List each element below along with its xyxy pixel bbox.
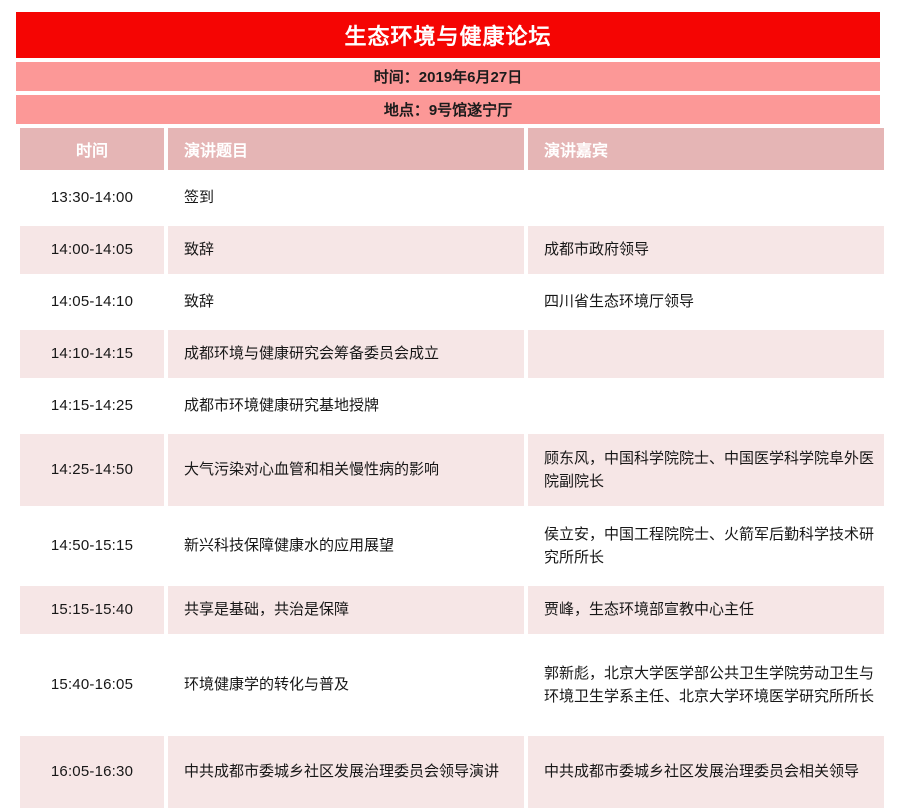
- cell-guest: 顾东风，中国科学院院士、中国医学科学院阜外医院副院长: [528, 434, 884, 506]
- cell-topic: 中共成都市委城乡社区发展治理委员会领导演讲: [168, 736, 524, 808]
- cell-guest: 中共成都市委城乡社区发展治理委员会相关领导: [528, 736, 884, 808]
- cell-time: 15:15-15:40: [20, 586, 164, 634]
- column-header-time: 时间: [20, 128, 164, 170]
- cell-guest: 侯立安，中国工程院院士、火箭军后勤科学技术研究所所长: [528, 510, 884, 582]
- agenda-table-head: 时间 演讲题目 演讲嘉宾: [20, 128, 884, 170]
- agenda-table-body: 13:30-14:00签到14:00-14:05致辞成都市政府领导14:05-1…: [20, 174, 884, 808]
- cell-topic: 环境健康学的转化与普及: [168, 638, 524, 732]
- column-header-guest: 演讲嘉宾: [528, 128, 884, 170]
- cell-time: 15:40-16:05: [20, 638, 164, 732]
- table-row: 14:00-14:05致辞成都市政府领导: [20, 226, 884, 274]
- cell-topic: 成都环境与健康研究会筹备委员会成立: [168, 330, 524, 378]
- table-row: 14:50-15:15新兴科技保障健康水的应用展望侯立安，中国工程院院士、火箭军…: [20, 510, 884, 582]
- forum-title: 生态环境与健康论坛: [16, 12, 880, 58]
- table-header-row: 时间 演讲题目 演讲嘉宾: [20, 128, 884, 170]
- cell-guest: 成都市政府领导: [528, 226, 884, 274]
- cell-guest: 四川省生态环境厅领导: [528, 278, 884, 326]
- agenda-table: 时间 演讲题目 演讲嘉宾 13:30-14:00签到14:00-14:05致辞成…: [16, 124, 888, 812]
- cell-time: 14:50-15:15: [20, 510, 164, 582]
- cell-guest: [528, 174, 884, 222]
- table-row: 14:15-14:25成都市环境健康研究基地授牌: [20, 382, 884, 430]
- cell-time: 16:05-16:30: [20, 736, 164, 808]
- table-row: 13:30-14:00签到: [20, 174, 884, 222]
- table-row: 14:05-14:10致辞四川省生态环境厅领导: [20, 278, 884, 326]
- cell-time: 13:30-14:00: [20, 174, 164, 222]
- table-row: 14:25-14:50大气污染对心血管和相关慢性病的影响顾东风，中国科学院院士、…: [20, 434, 884, 506]
- cell-topic: 成都市环境健康研究基地授牌: [168, 382, 524, 430]
- cell-topic: 致辞: [168, 226, 524, 274]
- table-row: 14:10-14:15成都环境与健康研究会筹备委员会成立: [20, 330, 884, 378]
- cell-topic: 新兴科技保障健康水的应用展望: [168, 510, 524, 582]
- cell-time: 14:00-14:05: [20, 226, 164, 274]
- table-row: 15:40-16:05环境健康学的转化与普及郭新彪，北京大学医学部公共卫生学院劳…: [20, 638, 884, 732]
- cell-time: 14:10-14:15: [20, 330, 164, 378]
- column-header-topic: 演讲题目: [168, 128, 524, 170]
- cell-guest: 贾峰，生态环境部宣教中心主任: [528, 586, 884, 634]
- agenda-poster: 生态环境与健康论坛 时间：2019年6月27日 地点：9号馆遂宁厅 时间 演讲题…: [0, 0, 899, 810]
- table-row: 15:15-15:40共享是基础，共治是保障贾峰，生态环境部宣教中心主任: [20, 586, 884, 634]
- cell-topic: 共享是基础，共治是保障: [168, 586, 524, 634]
- forum-place-line: 地点：9号馆遂宁厅: [16, 95, 880, 124]
- cell-time: 14:15-14:25: [20, 382, 164, 430]
- cell-guest: [528, 382, 884, 430]
- forum-time-line: 时间：2019年6月27日: [16, 62, 880, 91]
- cell-time: 14:05-14:10: [20, 278, 164, 326]
- cell-time: 14:25-14:50: [20, 434, 164, 506]
- table-row: 16:05-16:30中共成都市委城乡社区发展治理委员会领导演讲中共成都市委城乡…: [20, 736, 884, 808]
- cell-topic: 签到: [168, 174, 524, 222]
- cell-guest: [528, 330, 884, 378]
- cell-topic: 大气污染对心血管和相关慢性病的影响: [168, 434, 524, 506]
- cell-guest: 郭新彪，北京大学医学部公共卫生学院劳动卫生与环境卫生学系主任、北京大学环境医学研…: [528, 638, 884, 732]
- cell-topic: 致辞: [168, 278, 524, 326]
